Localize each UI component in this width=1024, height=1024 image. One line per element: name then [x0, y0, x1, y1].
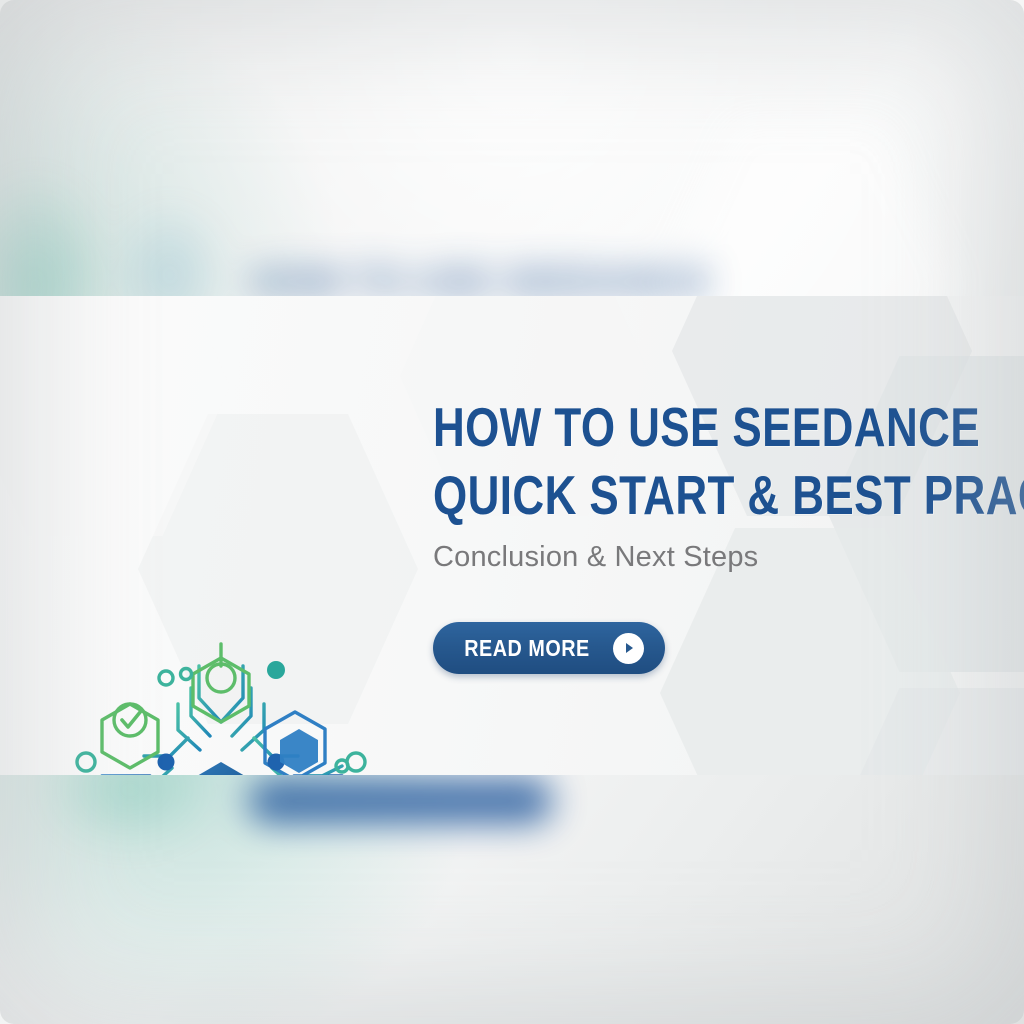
- read-more-label: READ MORE: [464, 635, 590, 662]
- read-more-button[interactable]: READ MORE: [433, 622, 665, 674]
- banner-stage: HOW TO USE SEEDANCE: [0, 0, 1024, 1024]
- banner-card: $ HOW TO USE SEEDANCE QUICK START & BEST…: [0, 296, 1024, 775]
- arrow-right-circle-icon: [613, 633, 644, 664]
- banner-content: HOW TO USE SEEDANCE QUICK START & BEST P…: [433, 296, 993, 775]
- banner-subtitle: Conclusion & Next Steps: [433, 541, 758, 574]
- node-dot: [158, 754, 175, 771]
- circuit-network-dollar-icon: $: [60, 626, 382, 775]
- headline-line-1: HOW TO USE SEEDANCE: [433, 400, 980, 455]
- headline-line-2: QUICK START & BEST PRACTICES: [433, 468, 1024, 523]
- center-hexagon: [179, 762, 263, 775]
- ghost-button: [248, 778, 553, 824]
